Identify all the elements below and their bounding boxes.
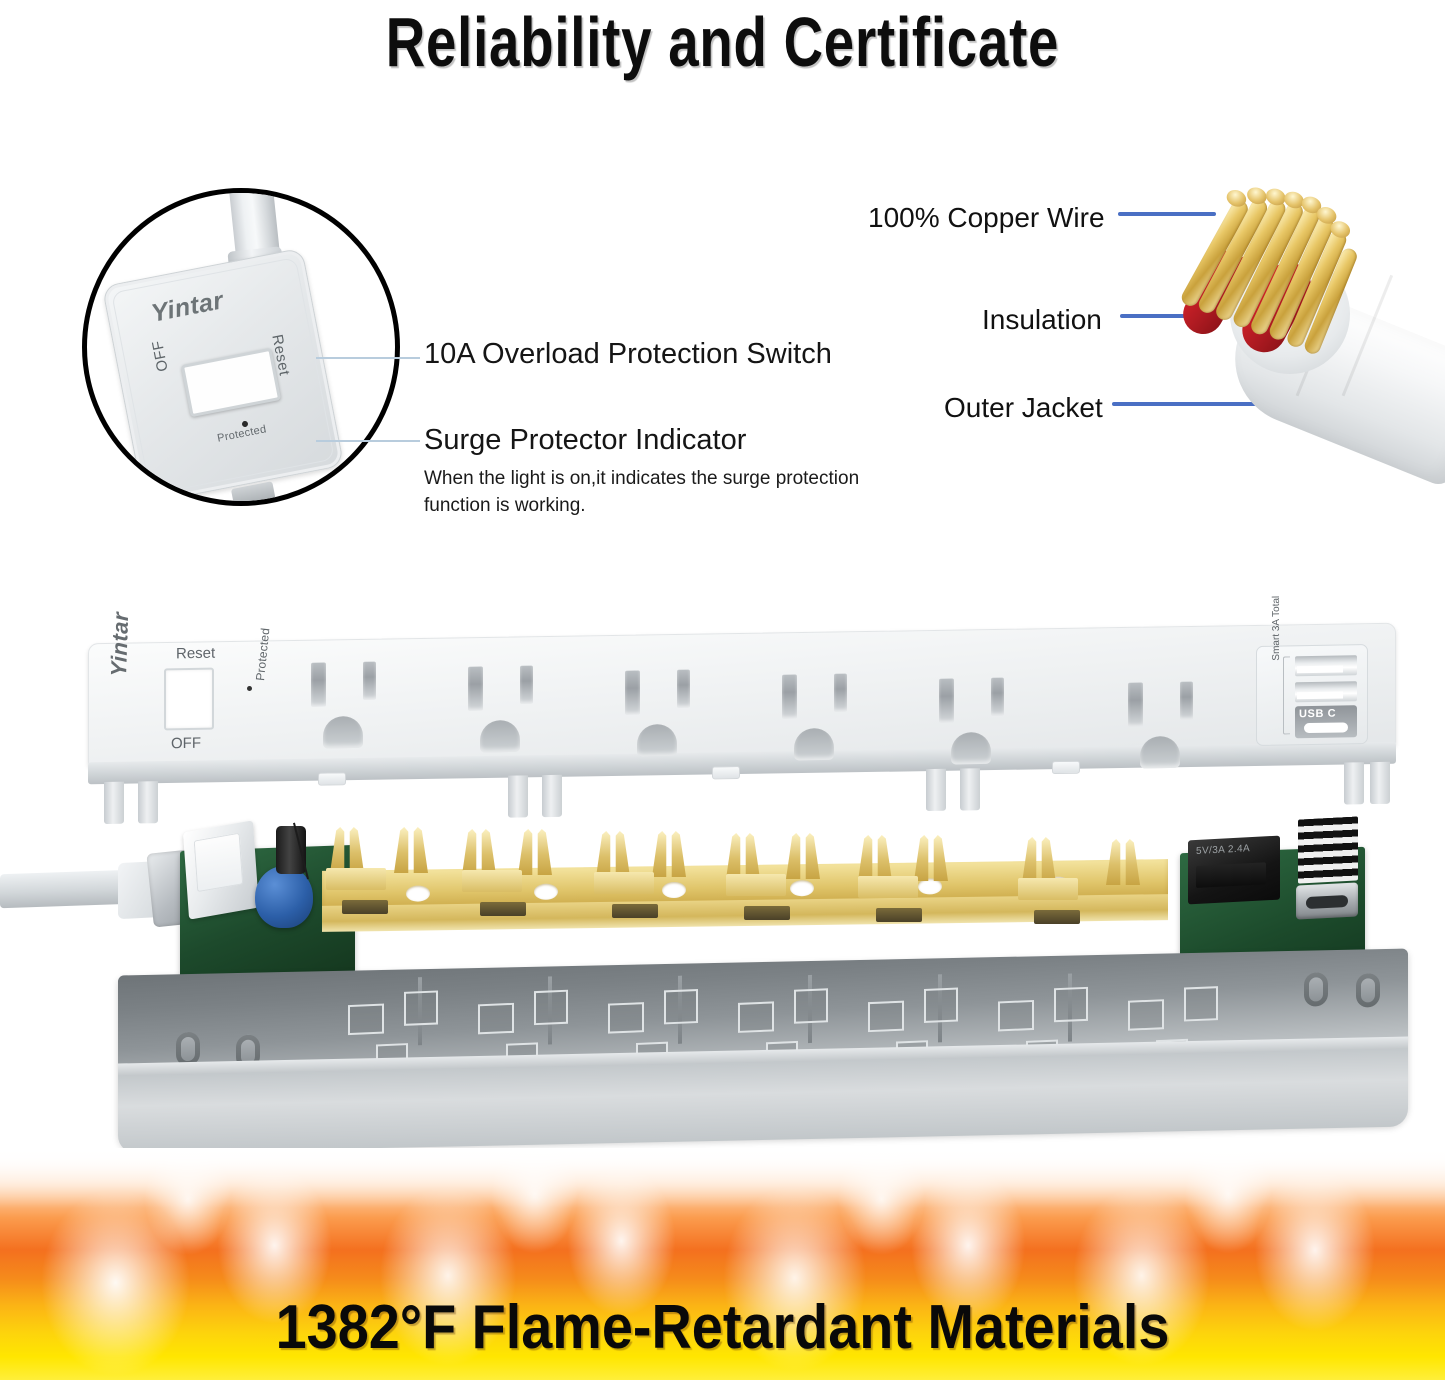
outlet-slot-hot [1180, 682, 1193, 720]
socket-cell-7b [1184, 986, 1218, 1021]
busbar-contact-pad-6 [1034, 910, 1080, 924]
socket-cell-1b [404, 990, 438, 1025]
socket-cell-3b [664, 989, 698, 1024]
socket-cell-5b [924, 988, 958, 1023]
outlet-ground-hole [1140, 736, 1180, 769]
busbar-clip-base-4 [726, 874, 786, 896]
mounting-leg-6 [960, 768, 980, 810]
outlet-slot-hot [677, 670, 690, 708]
outlet-slot-hot [991, 678, 1004, 716]
product-brand-logo: Yintar [106, 612, 134, 677]
socket-cell-1a [348, 1004, 384, 1036]
busbar-hole-3 [662, 882, 686, 898]
outlet-slot-hot [834, 674, 847, 712]
overload-reset-switch[interactable] [164, 668, 214, 731]
busbar-hole-1 [406, 885, 430, 901]
screw-boss-4 [1356, 973, 1380, 1008]
outlet-slot-hot [363, 662, 376, 700]
usb-a-connector-module: 5V/3A 2.4A [1188, 836, 1280, 905]
usb-c-opening-icon [1304, 722, 1348, 733]
busbar-clip-base-2 [462, 870, 522, 892]
product-off-label: OFF [171, 735, 201, 753]
busbar-contact-pad-5 [876, 908, 922, 922]
mounting-leg-7 [1344, 762, 1364, 804]
usb-c-label: USB C [1299, 708, 1336, 721]
callout-overload-switch-heading: 10A Overload Protection Switch [424, 338, 832, 371]
cable-cross-section-illustration [1170, 150, 1445, 450]
protected-led-icon [247, 686, 252, 691]
usb-c-connector-module [1296, 882, 1358, 919]
usb-c-port[interactable]: USB C [1295, 705, 1357, 738]
busbar-clip-base-5 [858, 876, 918, 898]
outlet-5[interactable] [933, 677, 1031, 757]
busbar-clip-base-1 [326, 868, 386, 890]
outlet-ground-hole [323, 716, 363, 749]
outlet-ground-hole [951, 732, 991, 765]
usb-bracket-icon [1283, 656, 1290, 734]
usb-charging-panel[interactable]: Smart 3A Total USB C [1256, 644, 1368, 746]
busbar-contact-pad-2 [480, 902, 526, 916]
leader-line-surge-indicator [316, 440, 420, 442]
screw-boss-3 [1304, 972, 1328, 1007]
outlet-1[interactable] [305, 661, 403, 741]
outlet-3[interactable] [619, 669, 717, 749]
flame-top-fade [0, 1148, 1445, 1208]
callout-surge-indicator-heading: Surge Protector Indicator [424, 424, 746, 457]
busbar-contact-pad-3 [612, 904, 658, 918]
overload-switch-module [183, 820, 259, 919]
busbar-contact-pad-4 [744, 906, 790, 920]
usb-a-connector-opening [1196, 862, 1266, 888]
outlet-ground-hole [794, 728, 834, 761]
outlet-4[interactable] [776, 673, 874, 753]
busbar-contact-pad-1 [342, 900, 388, 914]
mov-varistor-component [255, 866, 313, 928]
socket-cell-6b [1054, 987, 1088, 1022]
outlet-2[interactable] [462, 665, 560, 745]
outlet-slot-neutral [1128, 682, 1143, 726]
busbar-hole-2 [534, 884, 558, 900]
socket-cell-6a [998, 1000, 1034, 1032]
mounting-leg-5 [926, 769, 946, 811]
outlet-slot-neutral [468, 666, 483, 710]
outlet-slot-hot [520, 666, 533, 704]
outlet-slot-neutral [625, 670, 640, 714]
socket-cell-2b [534, 990, 568, 1025]
busbar-hole-4 [790, 880, 814, 896]
heatsink-component [1298, 816, 1358, 883]
callout-surge-indicator-description: When the light is on,it indicates the su… [424, 466, 894, 520]
socket-cell-2a [478, 1003, 514, 1035]
busbar-clip-base-6 [1018, 878, 1078, 900]
outlet-ground-hole [637, 724, 677, 757]
outlet-slot-neutral [939, 678, 954, 722]
socket-cell-3a [608, 1002, 644, 1034]
mounting-leg-8 [1370, 762, 1390, 804]
keyhole-notch-2 [712, 766, 740, 779]
callout-outer-jacket-label: Outer Jacket [944, 392, 1103, 424]
page-title: Reliability and Certificate [159, 2, 1286, 82]
usb-a-port-1[interactable] [1295, 655, 1357, 676]
power-cord [0, 870, 132, 909]
usb-smart-total-label: Smart 3A Total [1271, 596, 1282, 661]
busbar-contact-clip-2 [394, 827, 428, 873]
outlet-ground-hole [480, 720, 520, 753]
outlet-6[interactable] [1122, 681, 1220, 761]
keyhole-notch-3 [1052, 761, 1080, 774]
usb-module-rating-label: 5V/3A 2.4A [1196, 843, 1250, 857]
callout-copper-wire-label: 100% Copper Wire [868, 202, 1105, 234]
callout-insulation-label: Insulation [982, 304, 1102, 336]
socket-cell-5a [868, 1001, 904, 1033]
socket-cell-7a [1128, 999, 1164, 1031]
product-reset-label: Reset [176, 645, 215, 663]
switch-closeup-inset: Yintar Reset OFF Protected [82, 188, 400, 506]
busbar-clip-base-3 [594, 872, 654, 894]
outlet-slot-neutral [782, 674, 797, 718]
outlet-slot-neutral [311, 662, 326, 706]
socket-cell-4b [794, 988, 828, 1023]
socket-cell-4a [738, 1001, 774, 1033]
usb-a-port-2[interactable] [1295, 681, 1357, 702]
keyhole-notch-1 [318, 772, 346, 785]
inset-illustration: Yintar Reset OFF Protected [87, 193, 395, 501]
leader-line-overload-switch [316, 357, 420, 359]
flame-retardant-banner-text: 1382°F Flame-Retardant Materials [72, 1292, 1373, 1363]
